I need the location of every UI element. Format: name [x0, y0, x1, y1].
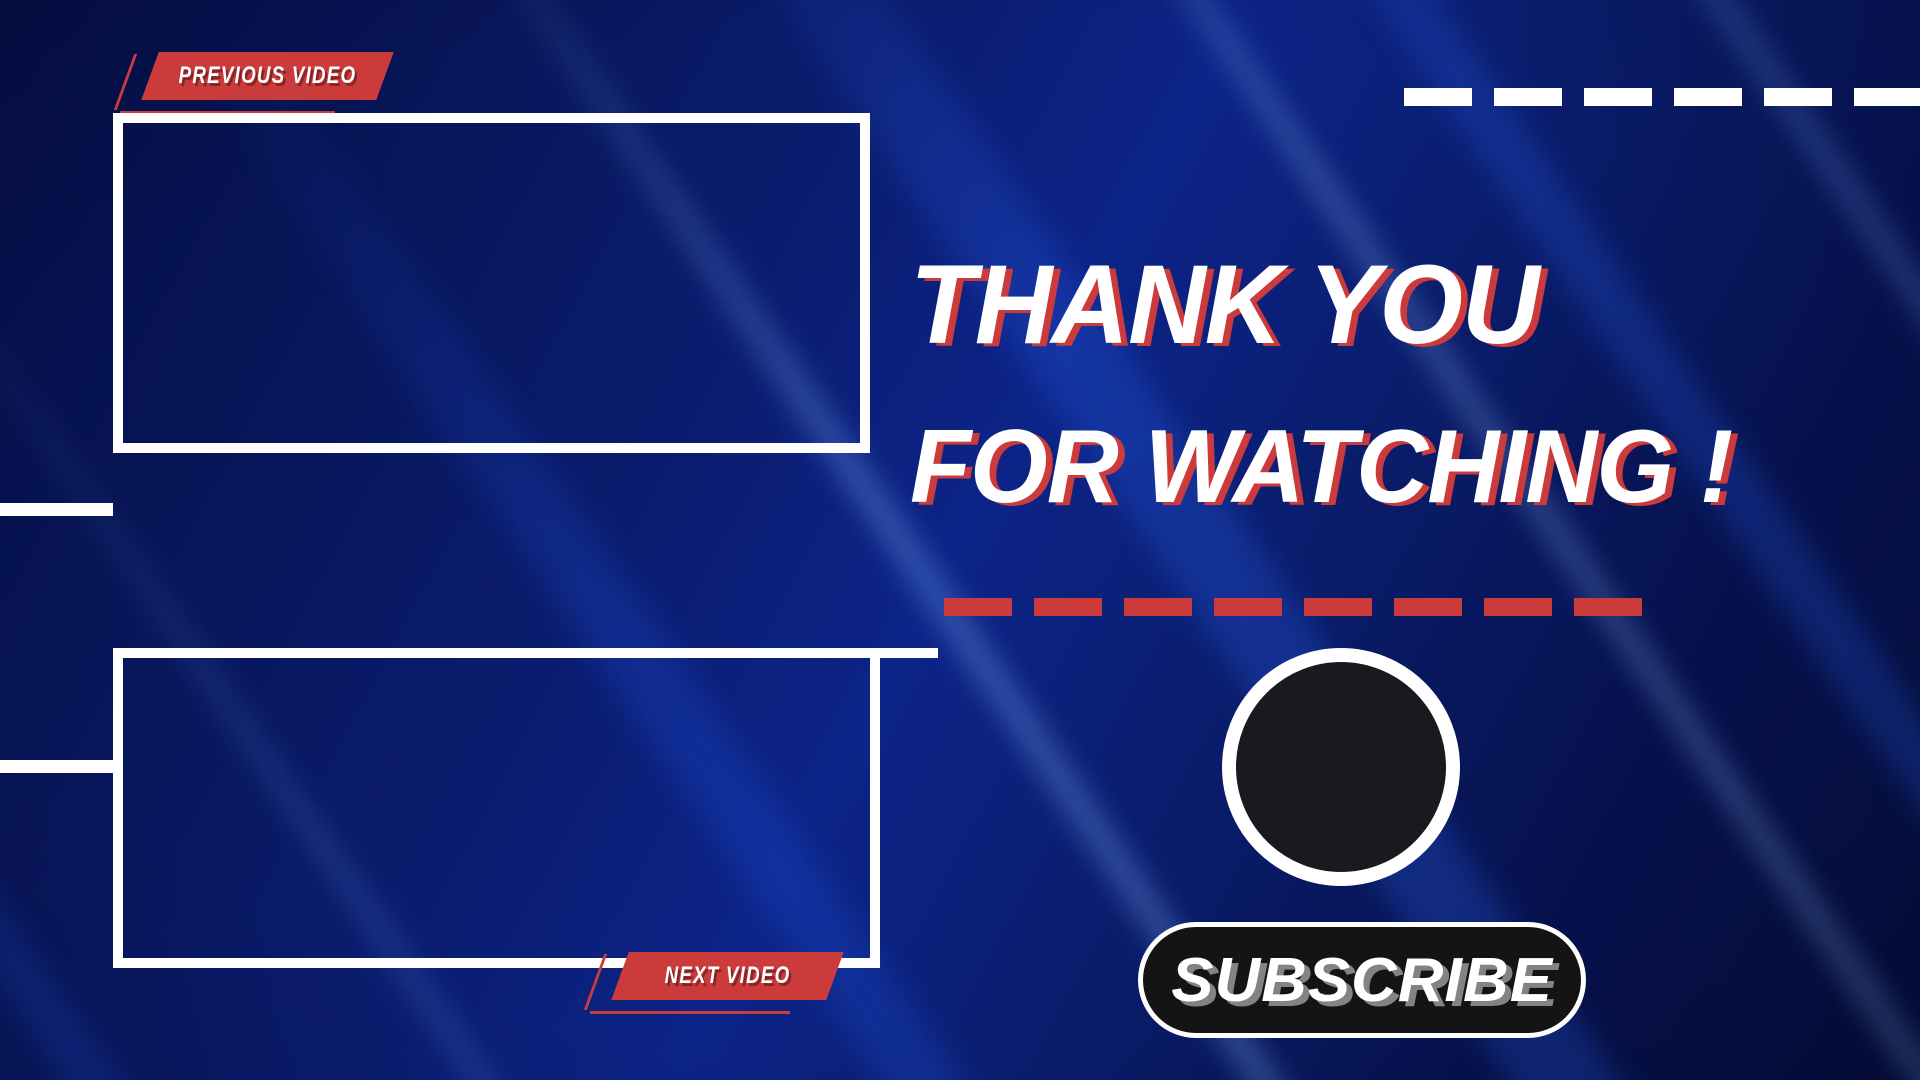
white-dash-4: [1674, 88, 1742, 106]
red-dashed-rule: [944, 598, 1642, 616]
subscribe-button-label: SUBSCRIBE: [1171, 945, 1553, 1016]
red-dash-5: [1304, 598, 1372, 616]
next-video-thumbnail[interactable]: [113, 648, 880, 968]
next-video-badge[interactable]: NEXT VIDEO: [620, 952, 835, 1000]
headline-line-1-text: THANK YOU: [910, 242, 1539, 367]
white-dash-5: [1764, 88, 1832, 106]
red-dash-7: [1484, 598, 1552, 616]
red-dash-6: [1394, 598, 1462, 616]
white-dash-2: [1494, 88, 1562, 106]
white-dash-1: [1404, 88, 1472, 106]
red-dash-4: [1214, 598, 1282, 616]
end-screen-canvas: PREVIOUS VIDEO NEXT VIDEO THANK YOU THAN…: [0, 0, 1920, 1080]
headline-line-2: FOR WATCHING ! FOR WATCHING !: [910, 414, 1851, 520]
red-dash-2: [1034, 598, 1102, 616]
headline-line-2-text: FOR WATCHING !: [910, 409, 1732, 525]
left-connector-bar-top: [0, 503, 113, 516]
next-video-frame-extension: [880, 648, 938, 658]
white-dash-3: [1584, 88, 1652, 106]
red-dash-1: [944, 598, 1012, 616]
previous-video-label: PREVIOUS VIDEO: [176, 52, 359, 100]
headline-line-1: THANK YOU THANK YOU: [910, 248, 1851, 362]
headline-block: THANK YOU THANK YOU FOR WATCHING ! FOR W…: [910, 248, 1890, 520]
red-dash-3: [1124, 598, 1192, 616]
white-dash-6: [1854, 88, 1920, 106]
next-video-label: NEXT VIDEO: [644, 952, 812, 1000]
badge-underline: [590, 1011, 790, 1014]
white-dashed-rule: [1404, 88, 1920, 106]
channel-avatar[interactable]: [1222, 648, 1460, 886]
left-connector-bar-bottom: [0, 760, 113, 773]
previous-video-badge[interactable]: PREVIOUS VIDEO: [150, 52, 385, 100]
previous-video-thumbnail[interactable]: [113, 113, 870, 453]
subscribe-button[interactable]: SUBSCRIBE: [1138, 922, 1586, 1038]
red-dash-8: [1574, 598, 1642, 616]
